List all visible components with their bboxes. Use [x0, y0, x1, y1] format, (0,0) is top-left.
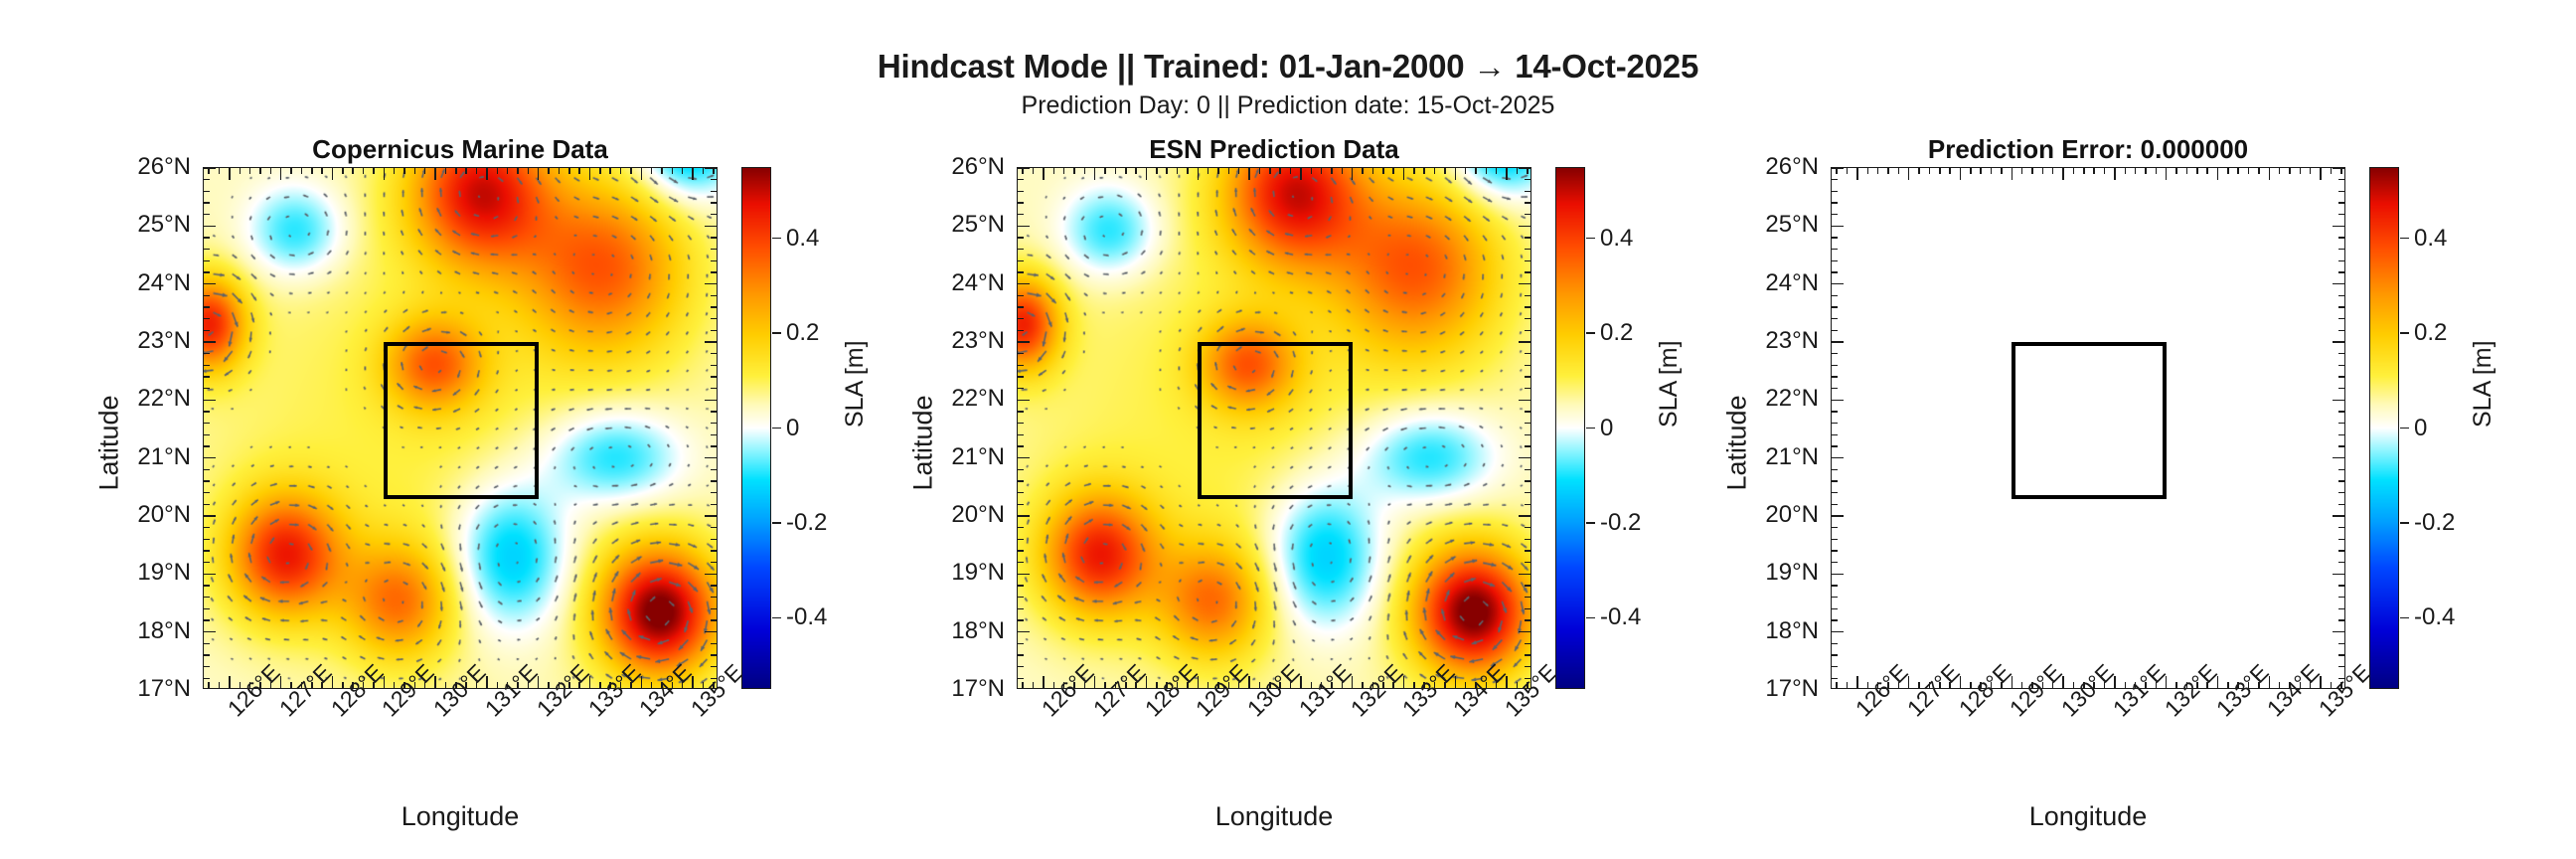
- yaxis-tick-label: 17°N: [1765, 675, 1819, 703]
- xaxis-tick-label: 128°E: [1139, 703, 1158, 722]
- colorbar-tick: [2400, 332, 2409, 334]
- yaxis-tick-label: 18°N: [137, 617, 191, 645]
- colorbar-tick-label: 0.4: [2414, 225, 2447, 253]
- panel-title-esn: ESN Prediction Data: [1017, 134, 1531, 165]
- yaxis-tick-label: 20°N: [1765, 501, 1819, 529]
- xaxis-tick-label: 135°E: [2314, 703, 2333, 722]
- xlabels-esn: 126°E127°E128°E129°E130°E131°E132°E133°E…: [1017, 693, 1531, 802]
- colorbar-tick: [772, 522, 781, 524]
- xaxis-tick-label: 134°E: [1448, 703, 1467, 722]
- yaxis-tick-label: 25°N: [137, 211, 191, 239]
- yaxis-title-error: Latitude: [1722, 395, 1753, 490]
- colorbar-title-esn: SLA [m]: [1655, 340, 1684, 428]
- xaxis-tick-label: 127°E: [1087, 703, 1106, 722]
- colorbar-tick: [1586, 522, 1595, 524]
- yaxis-tick-label: 26°N: [137, 153, 191, 181]
- xaxis-tick-label: 132°E: [531, 703, 550, 722]
- yaxis-tick-label: 23°N: [137, 327, 191, 355]
- yaxis-tick-label: 26°N: [951, 153, 1005, 181]
- xaxis-tick-label: 132°E: [2159, 703, 2177, 722]
- yaxis-tick-label: 26°N: [1765, 153, 1819, 181]
- xaxis-tick-label: 126°E: [1037, 703, 1055, 722]
- panel-esn-prediction-data: ESN Prediction Data 17°N18°N19°N20°N21°N…: [1017, 0, 1531, 859]
- xaxis-tick-label: 128°E: [1953, 703, 1972, 722]
- xaxis-tick-label: 127°E: [273, 703, 292, 722]
- colorbar-tick: [1586, 238, 1595, 240]
- xaxis-tick-label: 129°E: [377, 703, 396, 722]
- yaxis-title-esn: Latitude: [908, 395, 939, 490]
- colorbar-tick: [772, 617, 781, 619]
- xaxis-tick-label: 126°E: [1851, 703, 1869, 722]
- xaxis-title-copernicus: Longitude: [203, 801, 718, 832]
- yaxis-tick-label: 19°N: [951, 559, 1005, 587]
- colorbar-tick: [2400, 428, 2409, 429]
- panel-copernicus-marine-data: Copernicus Marine Data 17°N18°N19°N20°N2…: [203, 0, 718, 859]
- xaxis-tick-label: 133°E: [582, 703, 601, 722]
- xaxis-tick-label: 134°E: [2262, 703, 2281, 722]
- colorbar-tick-label: -0.4: [1600, 603, 1641, 631]
- colorbar-error: SLA [m] -0.4-0.200.20.4: [2369, 167, 2489, 689]
- yaxis-tick-label: 18°N: [951, 617, 1005, 645]
- xaxis-title-error: Longitude: [1831, 801, 2345, 832]
- xaxis-tick-label: 134°E: [634, 703, 653, 722]
- colorbar-tick-label: 0.4: [786, 225, 819, 253]
- xaxis-tick-label: 131°E: [2108, 703, 2127, 722]
- colorbar-tick-label: -0.4: [786, 603, 827, 631]
- panel-prediction-error: Prediction Error: 0.000000 17°N18°N19°N2…: [1831, 0, 2345, 859]
- xaxis-tick-label: 127°E: [1901, 703, 1920, 722]
- xaxis-tick-label: 135°E: [686, 703, 705, 722]
- xaxis-tick-label: 129°E: [2005, 703, 2023, 722]
- xlabels-error: 126°E127°E128°E129°E130°E131°E132°E133°E…: [1831, 693, 2345, 802]
- colorbar-tick: [772, 332, 781, 334]
- colorbar-gradient-esn: [1555, 167, 1585, 689]
- yaxis-tick-label: 24°N: [1765, 269, 1819, 297]
- panel-title-copernicus: Copernicus Marine Data: [203, 134, 718, 165]
- xlabels-copernicus: 126°E127°E128°E129°E130°E131°E132°E133°E…: [203, 693, 718, 802]
- yaxis-tick-label: 25°N: [951, 211, 1005, 239]
- yaxis-tick-label: 24°N: [951, 269, 1005, 297]
- colorbar-copernicus: SLA [m] -0.4-0.200.20.4: [741, 167, 861, 689]
- xaxis-tick-label: 132°E: [1345, 703, 1364, 722]
- yaxis-tick-label: 21°N: [1765, 443, 1819, 471]
- colorbar-tick-label: -0.2: [1600, 509, 1641, 537]
- colorbar-esn: SLA [m] -0.4-0.200.20.4: [1555, 167, 1675, 689]
- yaxis-tick-label: 17°N: [137, 675, 191, 703]
- axes-esn[interactable]: [1017, 167, 1531, 689]
- xaxis-tick-label: 133°E: [2210, 703, 2229, 722]
- selection-box-copernicus: [384, 342, 538, 499]
- colorbar-tick-label: 0: [1600, 415, 1613, 442]
- yaxis-tick-label: 22°N: [137, 385, 191, 413]
- xaxis-tick-label: 126°E: [223, 703, 241, 722]
- colorbar-tick-label: 0.4: [1600, 225, 1633, 253]
- xaxis-tick-label: 130°E: [428, 703, 447, 722]
- colorbar-gradient-copernicus: [741, 167, 771, 689]
- colorbar-tick-label: -0.2: [2414, 509, 2455, 537]
- yaxis-title-copernicus: Latitude: [94, 395, 125, 490]
- colorbar-tick-label: 0.2: [1600, 319, 1633, 347]
- colorbar-tick-label: -0.4: [2414, 603, 2455, 631]
- colorbar-tick: [1586, 428, 1595, 429]
- panel-title-error: Prediction Error: 0.000000: [1831, 134, 2345, 165]
- colorbar-tick: [1586, 617, 1595, 619]
- yaxis-tick-label: 24°N: [137, 269, 191, 297]
- yaxis-tick-label: 23°N: [951, 327, 1005, 355]
- yaxis-tick-label: 19°N: [137, 559, 191, 587]
- xaxis-tick-label: 131°E: [1294, 703, 1313, 722]
- colorbar-gradient-error: [2369, 167, 2399, 689]
- colorbar-tick-label: 0.2: [786, 319, 819, 347]
- xaxis-tick-label: 130°E: [1242, 703, 1261, 722]
- yaxis-tick-label: 25°N: [1765, 211, 1819, 239]
- xaxis-tick-label: 129°E: [1191, 703, 1209, 722]
- colorbar-tick: [2400, 617, 2409, 619]
- yaxis-tick-label: 20°N: [951, 501, 1005, 529]
- xaxis-tick-label: 131°E: [480, 703, 499, 722]
- colorbar-tick-label: -0.2: [786, 509, 827, 537]
- xaxis-tick-label: 128°E: [325, 703, 344, 722]
- xaxis-title-esn: Longitude: [1017, 801, 1531, 832]
- colorbar-tick: [2400, 522, 2409, 524]
- yaxis-tick-label: 19°N: [1765, 559, 1819, 587]
- yaxis-tick-label: 22°N: [951, 385, 1005, 413]
- xaxis-tick-label: 130°E: [2056, 703, 2075, 722]
- colorbar-tick-label: 0.2: [2414, 319, 2447, 347]
- selection-box-esn: [1198, 342, 1352, 499]
- colorbar-tick: [772, 238, 781, 240]
- colorbar-tick: [772, 428, 781, 429]
- colorbar-title-error: SLA [m]: [2469, 340, 2497, 428]
- xaxis-tick-label: 133°E: [1396, 703, 1415, 722]
- yaxis-tick-label: 21°N: [951, 443, 1005, 471]
- xaxis-tick-label: 135°E: [1500, 703, 1519, 722]
- colorbar-tick: [1586, 332, 1595, 334]
- yaxis-tick-label: 23°N: [1765, 327, 1819, 355]
- yaxis-tick-label: 17°N: [951, 675, 1005, 703]
- yaxis-tick-label: 22°N: [1765, 385, 1819, 413]
- yaxis-tick-label: 21°N: [137, 443, 191, 471]
- colorbar-title-copernicus: SLA [m]: [841, 340, 870, 428]
- yaxis-tick-label: 18°N: [1765, 617, 1819, 645]
- axes-copernicus[interactable]: [203, 167, 718, 689]
- axes-error[interactable]: [1831, 167, 2345, 689]
- colorbar-tick: [2400, 238, 2409, 240]
- selection-box-error: [2012, 342, 2166, 499]
- yaxis-tick-label: 20°N: [137, 501, 191, 529]
- colorbar-tick-label: 0: [2414, 415, 2427, 442]
- colorbar-tick-label: 0: [786, 415, 799, 442]
- figure-canvas: Hindcast Mode || Trained: 01-Jan-2000 → …: [0, 0, 2576, 859]
